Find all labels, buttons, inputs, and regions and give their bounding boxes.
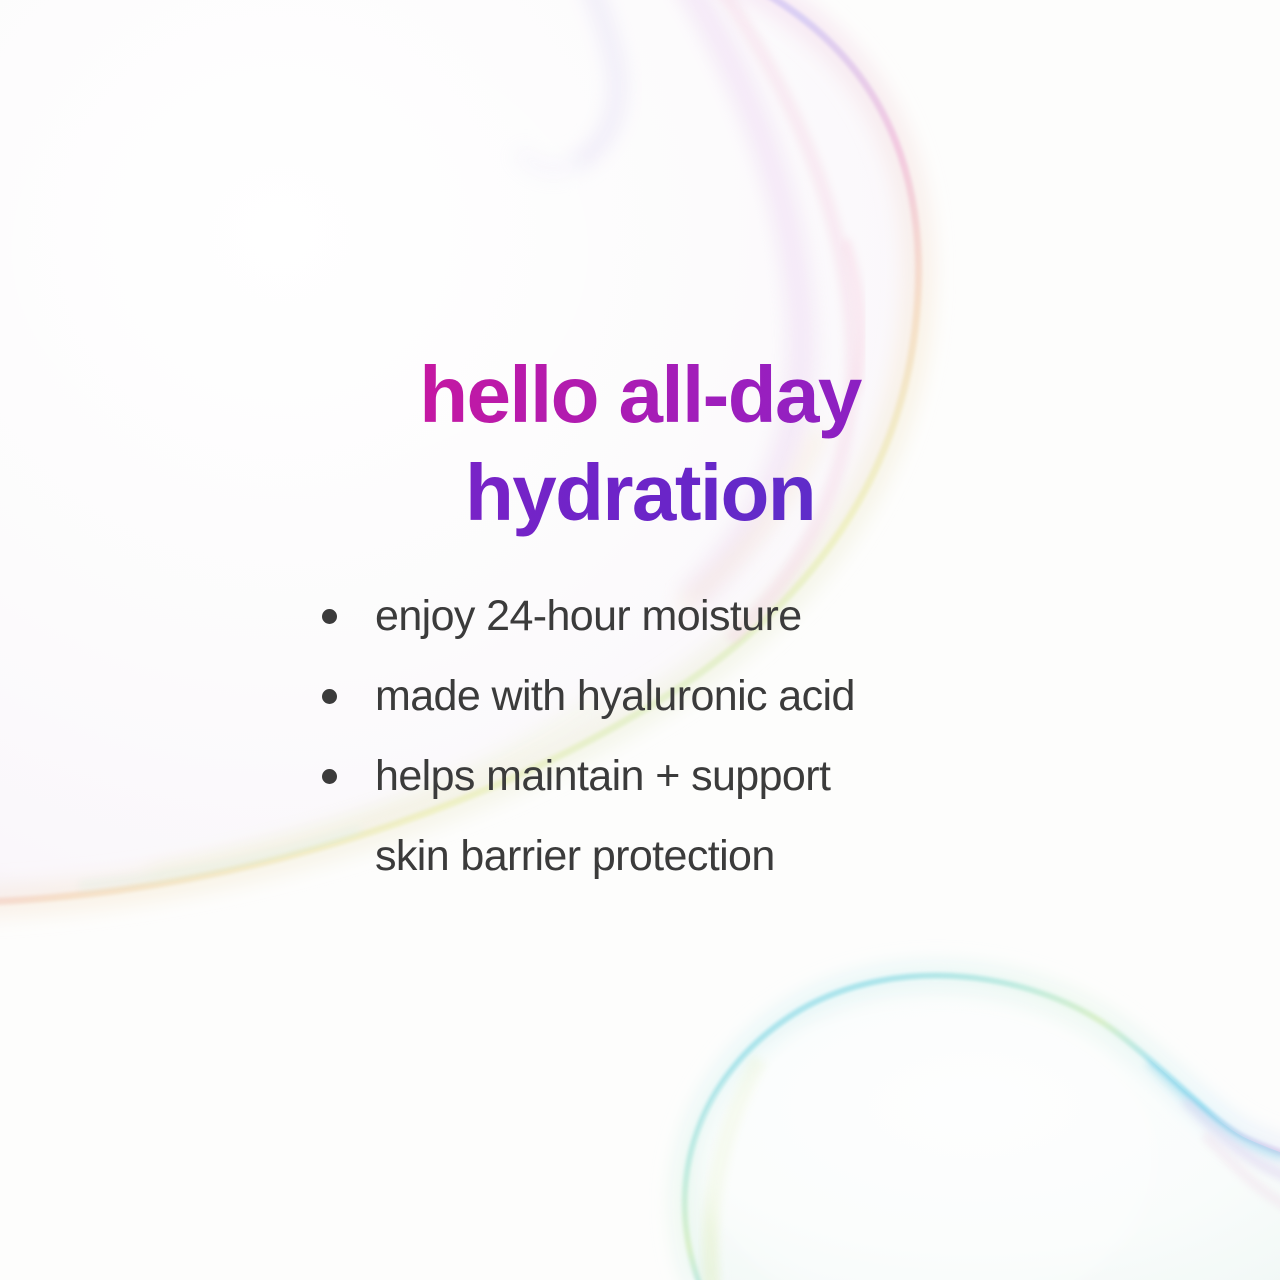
benefit-text: made with hyaluronic acid [375, 675, 855, 718]
benefit-text-continuation: skin barrier protection [375, 835, 775, 878]
list-item: helps maintain + support [322, 736, 1082, 816]
headline-line-2: hydration [0, 444, 1280, 542]
bullet-dot-icon [322, 769, 337, 784]
page-title: hello all-day hydration [0, 346, 1280, 542]
headline-line-1: hello all-day [0, 346, 1280, 444]
benefit-text: enjoy 24-hour moisture [375, 595, 802, 638]
benefits-list: enjoy 24-hour moisture made with hyaluro… [322, 576, 1082, 896]
list-item: enjoy 24-hour moisture [322, 576, 1082, 656]
list-item: made with hyaluronic acid [322, 656, 1082, 736]
benefit-text: helps maintain + support [375, 755, 830, 798]
bullet-dot-icon [322, 609, 337, 624]
marketing-graphic-canvas: hello all-day hydration enjoy 24-hour mo… [0, 0, 1280, 1280]
content-layer: hello all-day hydration enjoy 24-hour mo… [0, 0, 1280, 1280]
list-item-continuation: skin barrier protection [322, 816, 1082, 896]
bullet-dot-icon [322, 689, 337, 704]
